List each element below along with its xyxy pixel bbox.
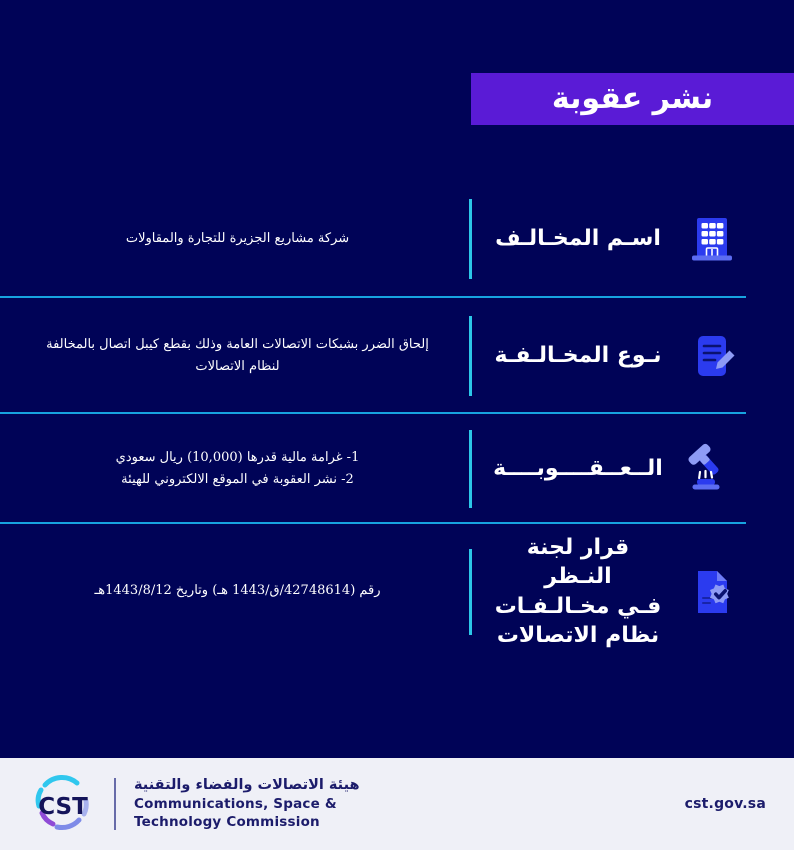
gavel-icon xyxy=(684,441,740,497)
row-body-violation-type: إلحاق الضرر بشبكات الاتصالات العامة وذلك… xyxy=(0,334,469,378)
org-name-english-line1: Communications, Space & xyxy=(134,796,360,814)
building-icon xyxy=(684,211,740,267)
row-label-penalty: الــعــقــــوبــــة xyxy=(490,454,666,483)
row-label-violator-name: اسـم المخـالـف xyxy=(490,224,666,253)
body-line: 1- غرامة مالية قدرها (10,000) ريال سعودي xyxy=(30,447,445,469)
row-accent-bar xyxy=(469,430,472,508)
row-label-line: نظام الاتصالات xyxy=(497,623,659,648)
row-head-violator-name: اسـم المخـالـف xyxy=(469,199,794,279)
penalty-publication-infographic: نشر عقوبة xyxy=(0,0,794,850)
row-body-violator-name: شركة مشاريع الجزيرة للتجارة والمقاولات xyxy=(0,228,469,250)
table-row-committee-decision: قرار لجنة النـظر فـي مخـالـفـات نظام الا… xyxy=(0,524,794,659)
document-check-badge-icon xyxy=(684,564,740,620)
cst-logo-text: CST xyxy=(38,794,88,820)
org-name-arabic: هيئة الاتصالات والفضاء والتقنية xyxy=(134,776,360,794)
document-pen-icon xyxy=(684,328,740,384)
row-head-committee-decision: قرار لجنة النـظر فـي مخـالـفـات نظام الا… xyxy=(469,533,794,649)
row-label-line: فـي مخـالـفـات xyxy=(495,594,662,619)
table-row-penalty: الــعــقــــوبــــة 1- غرامة مالية قدرها… xyxy=(0,414,794,524)
body-line: إلحاق الضرر بشبكات الاتصالات العامة وذلك… xyxy=(30,334,445,356)
row-head-penalty: الــعــقــــوبــــة xyxy=(469,430,794,508)
row-body-committee-decision: رقم (42748614/ق/1443 هـ) وتاريخ 1443/8/1… xyxy=(0,580,469,602)
row-label-line: قرار لجنة النـظر xyxy=(527,535,629,589)
organization-names: هيئة الاتصالات والفضاء والتقنية Communic… xyxy=(134,776,360,831)
table-row-violator-name: اسـم المخـالـف شركة مشاريع الجزيرة للتجا… xyxy=(0,180,794,298)
row-accent-bar xyxy=(469,199,472,279)
table-row-violation-type: نـوع المخـالـفـة إلحاق الضرر بشبكات الات… xyxy=(0,298,794,414)
footer-branding: CST هيئة الاتصالات والفضاء والتقنية Comm… xyxy=(30,773,360,835)
header-zone: نشر عقوبة xyxy=(0,0,794,180)
row-accent-bar xyxy=(469,549,472,635)
logo-divider xyxy=(114,778,116,830)
body-line: شركة مشاريع الجزيرة للتجارة والمقاولات xyxy=(30,228,445,250)
row-label-committee-decision: قرار لجنة النـظر فـي مخـالـفـات نظام الا… xyxy=(490,533,666,649)
row-label-violation-type: نـوع المخـالـفـة xyxy=(490,341,666,370)
body-line: رقم (42748614/ق/1443 هـ) وتاريخ 1443/8/1… xyxy=(30,580,445,602)
footer: CST هيئة الاتصالات والفضاء والتقنية Comm… xyxy=(0,758,794,850)
body-line: لنظام الاتصالات xyxy=(30,356,445,378)
org-name-english-line2: Technology Commission xyxy=(134,814,360,832)
row-head-violation-type: نـوع المخـالـفـة xyxy=(469,316,794,396)
title-banner: نشر عقوبة xyxy=(471,73,794,125)
details-list: اسـم المخـالـف شركة مشاريع الجزيرة للتجا… xyxy=(0,180,794,758)
cst-logo-icon: CST xyxy=(30,773,96,835)
body-line: 2- نشر العقوبة في الموقع الالكتروني للهي… xyxy=(30,469,445,491)
row-body-penalty: 1- غرامة مالية قدرها (10,000) ريال سعودي… xyxy=(0,447,469,491)
page-title: نشر عقوبة xyxy=(552,84,713,114)
website-url[interactable]: cst.gov.sa xyxy=(685,796,766,812)
row-accent-bar xyxy=(469,316,472,396)
